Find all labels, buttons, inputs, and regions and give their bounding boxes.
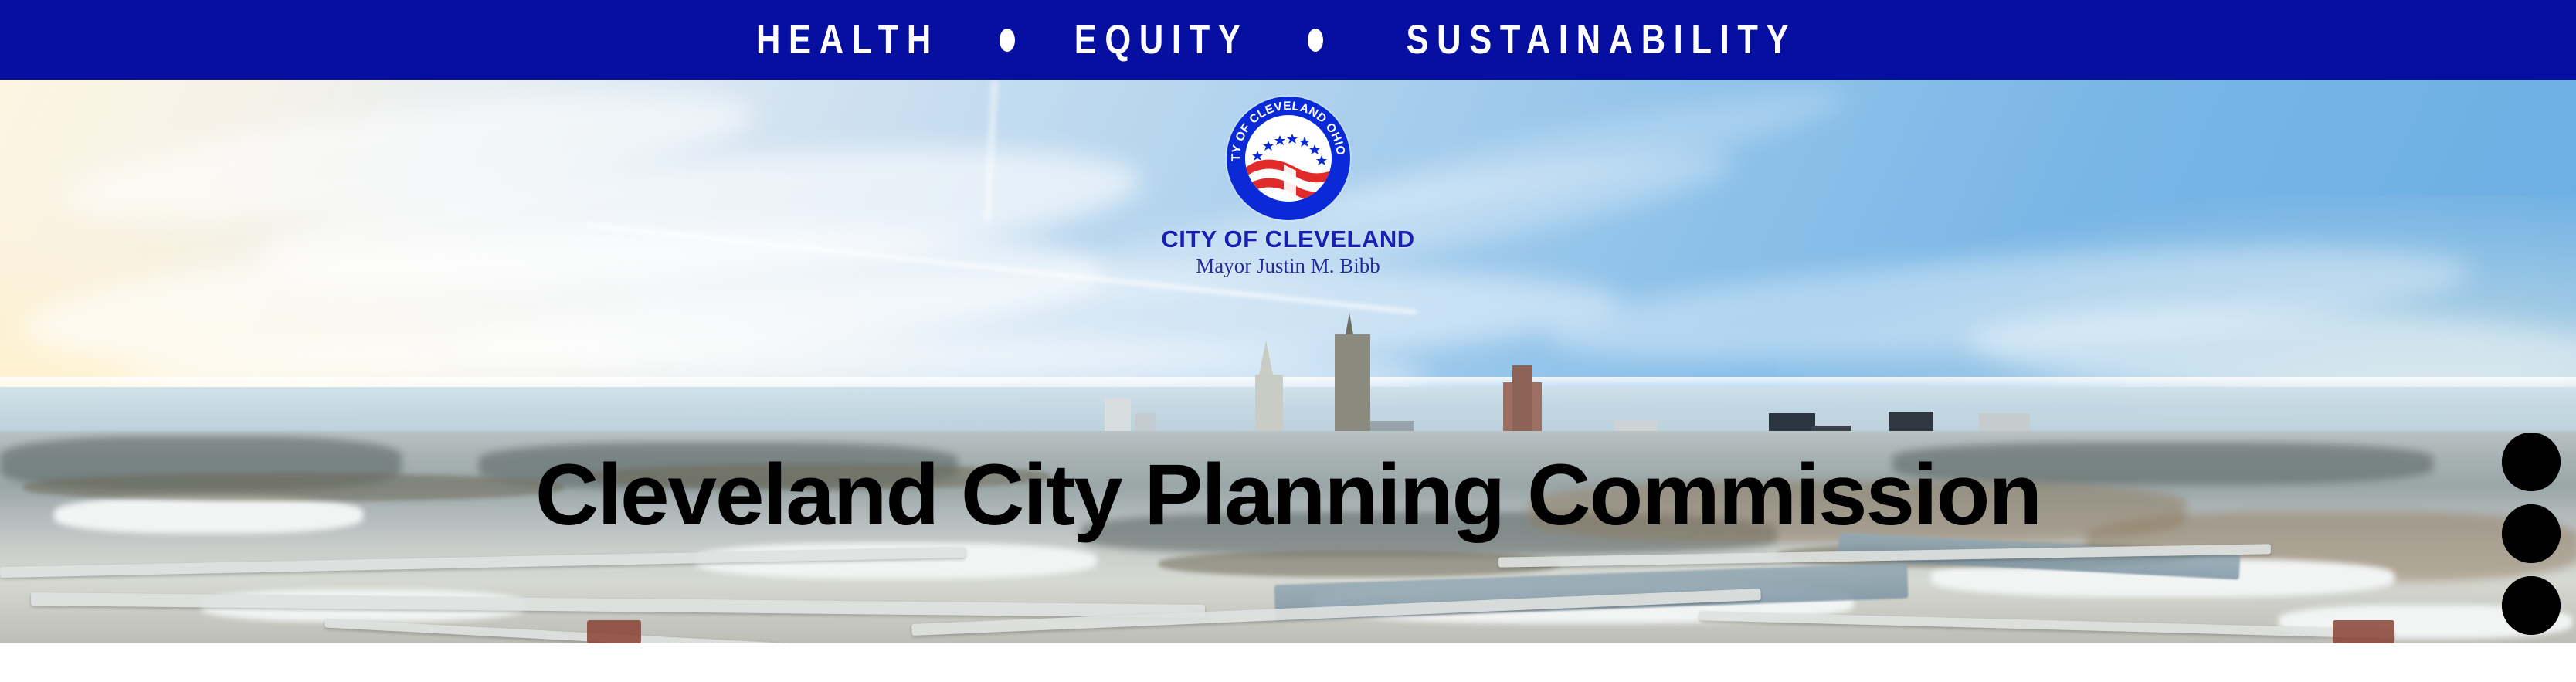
city-of-cleveland-seal: CITY OF CLEVELAND OHIO [1227, 97, 1350, 220]
youtube-glyph [2502, 433, 2561, 491]
facebook-glyph [2502, 576, 2561, 635]
page-root: HEALTH EQUITY SUSTAINABILITY [0, 0, 2576, 682]
seal-inner-disc [1245, 115, 1332, 202]
social-links-rail [2502, 433, 2561, 635]
tagline-inner: HEALTH EQUITY SUSTAINABILITY [736, 19, 1840, 60]
bottom-white-strip [0, 643, 2576, 682]
instagram-icon[interactable] [2502, 504, 2561, 563]
tagline-word-sustainability: SUSTAINABILITY [1407, 19, 1797, 60]
youtube-icon[interactable] [2502, 433, 2561, 491]
tagline-word-health: HEALTH [756, 19, 939, 60]
tagline-banner: HEALTH EQUITY SUSTAINABILITY [0, 0, 2576, 80]
instagram-glyph [2502, 504, 2561, 563]
city-wordmark-subtitle: Mayor Justin M. Bibb [1057, 255, 1520, 278]
american-flag-icon [1245, 152, 1332, 202]
facebook-icon[interactable] [2502, 576, 2561, 635]
city-branding-block: CITY OF CLEVELAND OHIO [1057, 97, 1520, 277]
city-wordmark-title: CITY OF CLEVELAND [1057, 227, 1520, 253]
tagline-word-equity: EQUITY [1074, 19, 1249, 60]
bullet-dot-icon [1000, 29, 1015, 52]
bullet-dot-icon [1308, 29, 1323, 52]
